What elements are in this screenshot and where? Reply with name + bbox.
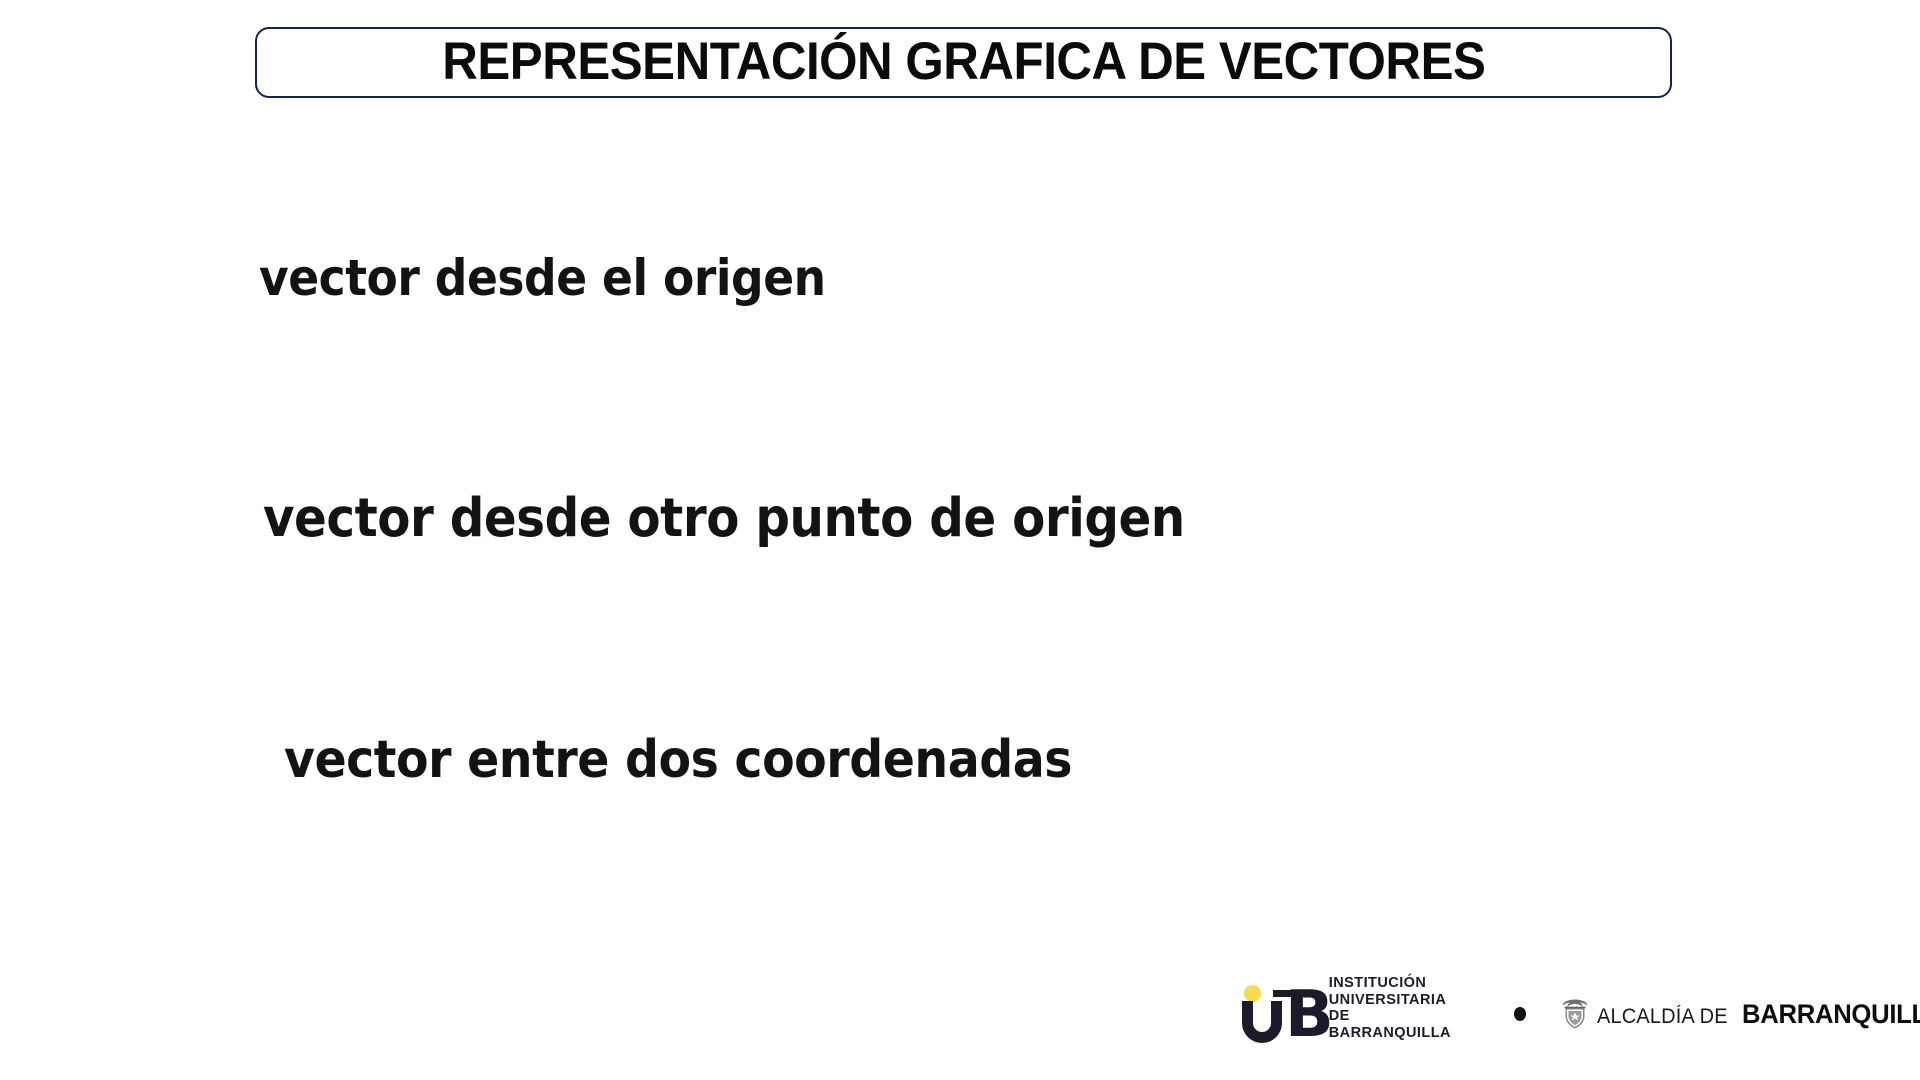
university-wordmark-line-3: DE BARRANQUILLA [1329, 1008, 1462, 1041]
iub-monogram-icon: B [1240, 985, 1323, 1043]
city-hall-city-name: BARRANQUILLA [1742, 999, 1920, 1030]
university-wordmark-line-2: UNIVERSITARIA [1329, 992, 1462, 1009]
university-wordmark-line-1: INSTITUCIÓN [1329, 975, 1462, 992]
bullet-line-vector-desde-el-origen: vector desde el origen [259, 253, 826, 303]
coat-of-arms-icon [1560, 998, 1590, 1030]
footer-separator-dot-icon [1514, 1007, 1527, 1021]
slide-canvas: REPRESENTACIÓN GRAFICA DE VECTORES vecto… [0, 0, 1920, 1080]
university-logo-wordmark: INSTITUCIÓN UNIVERSITARIA DE BARRANQUILL… [1329, 975, 1462, 1043]
iub-letter-b-icon: B [1285, 988, 1332, 1043]
bullet-line-vector-entre-dos-coordenadas: vector entre dos coordenadas [284, 734, 1072, 786]
city-hall-wordmark: ALCALDÍA DE BARRANQUILLA [1597, 999, 1920, 1030]
bullet-line-vector-desde-otro-punto-de-origen: vector desde otro punto de origen [263, 492, 1185, 545]
iub-yellow-dot-icon [1244, 985, 1261, 1002]
page-title: REPRESENTACIÓN GRAFICA DE VECTORES [442, 35, 1485, 91]
title-box: REPRESENTACIÓN GRAFICA DE VECTORES [255, 27, 1672, 98]
city-hall-logo: ALCALDÍA DE BARRANQUILLA [1560, 998, 1920, 1030]
city-hall-prefix: ALCALDÍA DE [1597, 1005, 1728, 1029]
university-logo: B INSTITUCIÓN UNIVERSITARIA DE BARRANQUI… [1240, 985, 1462, 1043]
footer-logos: B INSTITUCIÓN UNIVERSITARIA DE BARRANQUI… [1240, 983, 1920, 1045]
iub-letter-u-icon [1242, 1001, 1282, 1043]
